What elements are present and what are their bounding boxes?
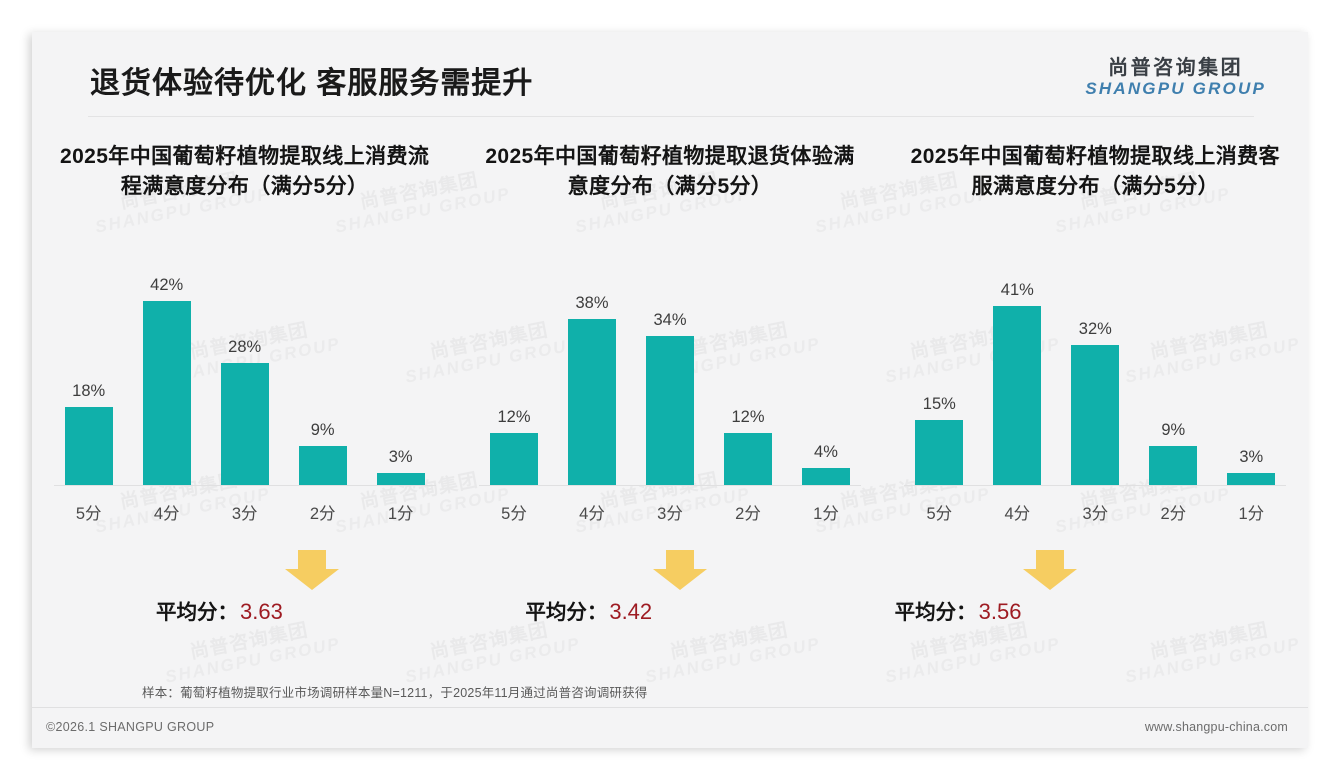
bar-slot[interactable]: 9% [288, 266, 358, 486]
bar-chart-plot: 12%38%34%12%4%5分4分3分2分1分 [479, 266, 861, 486]
footnote: 样本：葡萄籽植物提取行业市场调研样本量N=1211，于2025年11月通过尚普咨… [142, 682, 648, 701]
average-score-prefix: 平均分： [525, 601, 607, 624]
chart-panel: 2025年中国葡萄籽植物提取退货体验满意度分布（满分5分）12%38%34%12… [457, 142, 882, 662]
company-logo: 尚普咨询集团 SHANGPU GROUP [1085, 58, 1266, 98]
header-divider [88, 116, 1254, 117]
bar-value-label: 12% [713, 408, 783, 427]
bar-value-label: 41% [982, 281, 1052, 300]
arrow-shaft [1036, 550, 1064, 569]
bar[interactable] [65, 407, 113, 486]
arrow-head [653, 569, 707, 590]
x-axis-tick-label: 5分 [54, 500, 124, 524]
bar-value-label: 12% [479, 408, 549, 427]
bar[interactable] [993, 306, 1041, 486]
bar-value-label: 34% [635, 311, 705, 330]
bar-value-label: 38% [557, 294, 627, 313]
bar-slot[interactable]: 32% [1060, 266, 1130, 486]
average-score-annotation: 平均分：3.56 [883, 550, 1308, 650]
x-axis-tick-label: 4分 [982, 500, 1052, 524]
bar-value-label: 42% [132, 276, 202, 295]
bar-value-label: 15% [904, 395, 974, 414]
bar-group: 18%42%28%9%3% [54, 266, 436, 486]
bar[interactable] [802, 468, 850, 486]
bar-value-label: 3% [1216, 448, 1286, 467]
bar[interactable] [143, 301, 191, 486]
logo-chinese-text: 尚普咨询集团 [1085, 58, 1266, 80]
bar[interactable] [646, 336, 694, 486]
bar[interactable] [490, 433, 538, 486]
chart-title: 2025年中国葡萄籽植物提取线上消费客服满意度分布（满分5分） [905, 142, 1285, 208]
average-score-text: 平均分：3.42 [525, 595, 652, 625]
footer-copyright: ©2026.1 SHANGPU GROUP [46, 720, 214, 734]
bar-slot[interactable]: 4% [791, 266, 861, 486]
charts-row: 2025年中国葡萄籽植物提取线上消费流程满意度分布（满分5分）18%42%28%… [32, 142, 1308, 662]
bar[interactable] [299, 446, 347, 486]
slide-footer: ©2026.1 SHANGPU GROUP www.shangpu-china.… [32, 708, 1308, 748]
x-axis-tick-label: 1分 [1216, 500, 1286, 524]
average-score-value: 3.42 [609, 599, 652, 624]
bar-slot[interactable]: 3% [366, 266, 436, 486]
x-axis-tick-label: 1分 [366, 500, 436, 524]
slide-canvas: 尚普咨询集团SHANGPU GROUP尚普咨询集团SHANGPU GROUP尚普… [32, 32, 1308, 748]
bar-group: 12%38%34%12%4% [479, 266, 861, 486]
bar-slot[interactable]: 38% [557, 266, 627, 486]
average-score-value: 3.63 [240, 599, 283, 624]
chart-panel: 2025年中国葡萄籽植物提取线上消费客服满意度分布（满分5分）15%41%32%… [883, 142, 1308, 662]
bar-value-label: 4% [791, 443, 861, 462]
chart-panel: 2025年中国葡萄籽植物提取线上消费流程满意度分布（满分5分）18%42%28%… [32, 142, 457, 662]
down-arrow-icon [1023, 550, 1077, 590]
x-axis-tick-label: 3分 [1060, 500, 1130, 524]
bar-slot[interactable]: 42% [132, 266, 202, 486]
bar-slot[interactable]: 41% [982, 266, 1052, 486]
bar-value-label: 3% [366, 448, 436, 467]
page-title: 退货体验待优化 客服服务需提升 [90, 58, 533, 102]
bar-value-label: 18% [54, 382, 124, 401]
bar-slot[interactable]: 12% [479, 266, 549, 486]
arrow-head [1023, 569, 1077, 590]
bar-slot[interactable]: 34% [635, 266, 705, 486]
x-axis-tick-label: 2分 [713, 500, 783, 524]
bar-value-label: 9% [288, 421, 358, 440]
bar[interactable] [1071, 345, 1119, 486]
x-axis-tick-label: 2分 [288, 500, 358, 524]
x-axis-tick-label: 4分 [132, 500, 202, 524]
x-axis-tick-label: 5分 [479, 500, 549, 524]
bar-slot[interactable]: 28% [210, 266, 280, 486]
bar[interactable] [568, 319, 616, 486]
down-arrow-icon [653, 550, 707, 590]
bar-slot[interactable]: 15% [904, 266, 974, 486]
bar-group: 15%41%32%9%3% [904, 266, 1286, 486]
bar-chart-plot: 15%41%32%9%3%5分4分3分2分1分 [904, 266, 1286, 486]
x-axis-tick-label: 2分 [1138, 500, 1208, 524]
bar[interactable] [724, 433, 772, 486]
logo-english-text: SHANGPU GROUP [1085, 80, 1266, 98]
x-axis-tick-label: 4分 [557, 500, 627, 524]
arrow-shaft [666, 550, 694, 569]
average-score-text: 平均分：3.56 [895, 595, 1022, 625]
down-arrow-icon [285, 550, 339, 590]
bar[interactable] [1149, 446, 1197, 486]
average-score-prefix: 平均分： [895, 601, 977, 624]
x-axis-tick-label: 1分 [791, 500, 861, 524]
x-axis-tick-labels: 5分4分3分2分1分 [479, 486, 861, 524]
average-score-annotation: 平均分：3.42 [457, 550, 882, 650]
bar-slot[interactable]: 3% [1216, 266, 1286, 486]
bar-value-label: 28% [210, 338, 280, 357]
x-axis-tick-labels: 5分4分3分2分1分 [904, 486, 1286, 524]
average-score-prefix: 平均分： [156, 601, 238, 624]
bar-value-label: 32% [1060, 320, 1130, 339]
chart-title: 2025年中国葡萄籽植物提取退货体验满意度分布（满分5分） [480, 142, 860, 208]
bar-slot[interactable]: 9% [1138, 266, 1208, 486]
bar-chart-plot: 18%42%28%9%3%5分4分3分2分1分 [54, 266, 436, 486]
average-score-annotation: 平均分：3.63 [32, 550, 457, 650]
bar[interactable] [221, 363, 269, 486]
arrow-shaft [298, 550, 326, 569]
bar[interactable] [915, 420, 963, 486]
bar-slot[interactable]: 12% [713, 266, 783, 486]
average-score-text: 平均分：3.63 [156, 595, 283, 625]
chart-title: 2025年中国葡萄籽植物提取线上消费流程满意度分布（满分5分） [55, 142, 435, 208]
footer-website[interactable]: www.shangpu-china.com [1145, 720, 1288, 734]
slide-header: 退货体验待优化 客服服务需提升 尚普咨询集团 SHANGPU GROUP [32, 32, 1308, 122]
x-axis-tick-label: 5分 [904, 500, 974, 524]
x-axis-tick-label: 3分 [210, 500, 280, 524]
x-axis-tick-labels: 5分4分3分2分1分 [54, 486, 436, 524]
arrow-head [285, 569, 339, 590]
average-score-value: 3.56 [979, 599, 1022, 624]
bar-value-label: 9% [1138, 421, 1208, 440]
bar-slot[interactable]: 18% [54, 266, 124, 486]
x-axis-tick-label: 3分 [635, 500, 705, 524]
